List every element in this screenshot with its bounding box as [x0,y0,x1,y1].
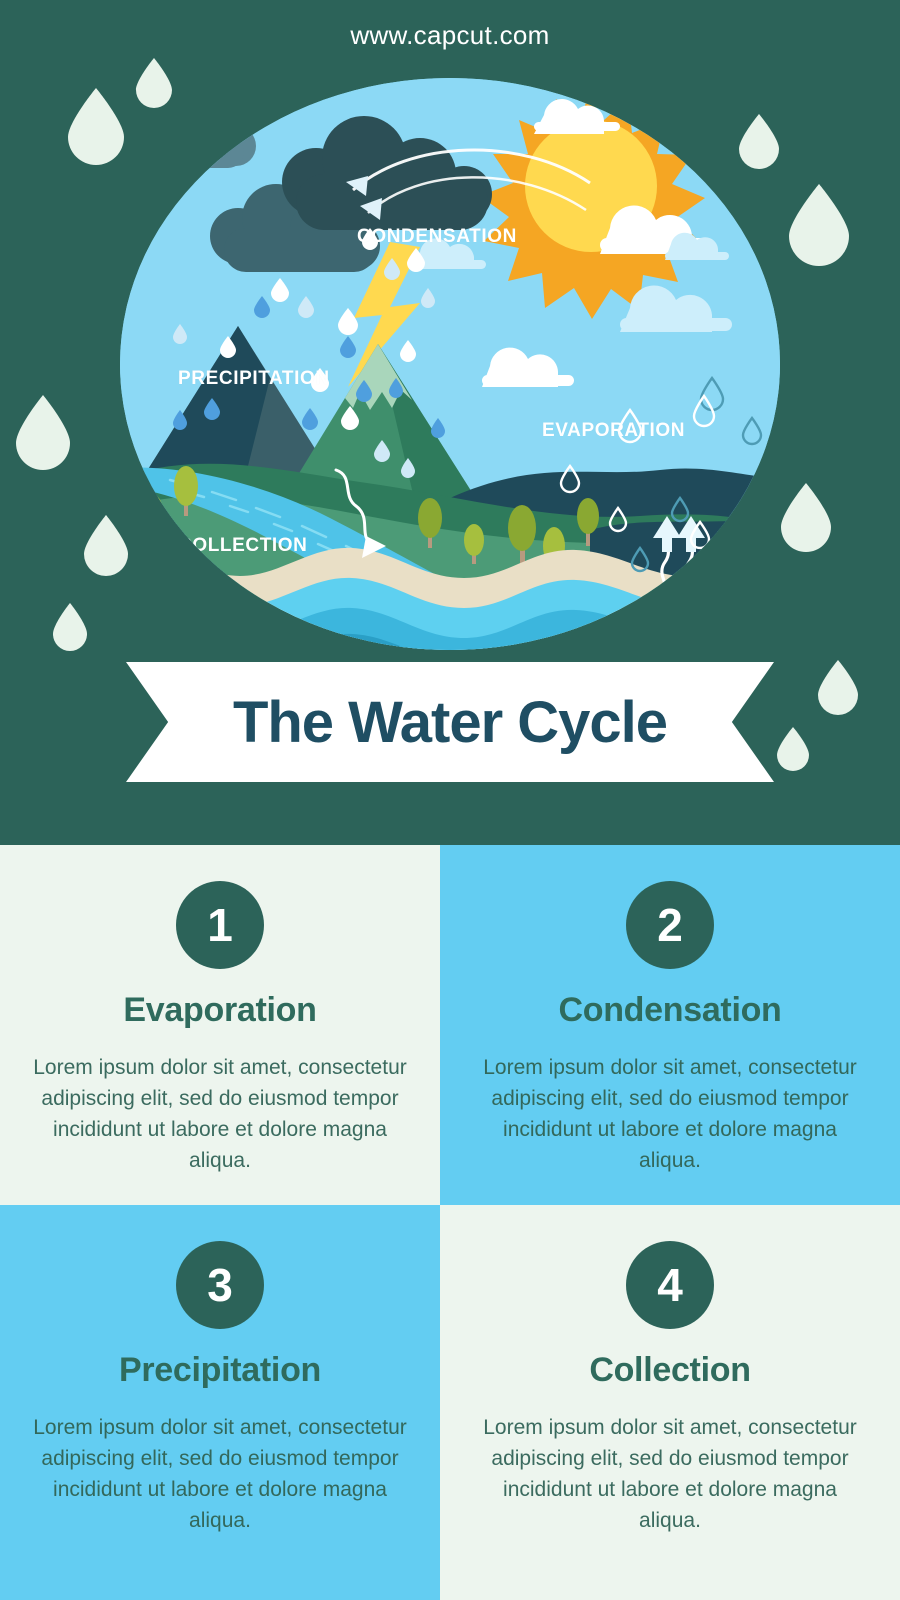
step-badge-4: 4 [626,1241,714,1329]
step-badge-1: 1 [176,881,264,969]
step-badge-2: 2 [626,881,714,969]
raindrop-icon [777,727,809,771]
label-precipitation: PRECIPITATION [178,368,330,390]
steps-grid: 1 Evaporation Lorem ipsum dolor sit amet… [0,845,900,1600]
label-evaporation: EVAPORATION [542,420,685,442]
raindrop-icon [16,395,70,470]
step-body-4: Lorem ipsum dolor sit amet, consectetur … [470,1412,870,1536]
raindrop-icon [789,184,849,266]
step-card-4[interactable]: 4 Collection Lorem ipsum dolor sit amet,… [440,1205,900,1600]
step-title-3: Precipitation [119,1351,321,1390]
step-body-2: Lorem ipsum dolor sit amet, consectetur … [470,1052,870,1176]
title-ribbon: The Water Cycle [126,662,774,782]
step-badge-3: 3 [176,1241,264,1329]
raindrop-icon [53,603,87,651]
raindrop-icon [781,483,831,552]
raindrop-icon [818,660,858,715]
step-card-2[interactable]: 2 Condensation Lorem ipsum dolor sit ame… [440,845,900,1205]
raindrop-icon [68,88,124,165]
step-body-3: Lorem ipsum dolor sit amet, consectetur … [26,1412,414,1536]
step-title-2: Condensation [558,991,781,1030]
label-collection: COLLECTION [178,535,308,557]
page-title: The Water Cycle [233,689,667,756]
water-cycle-illustration: CONDENSATION PRECIPITATION EVAPORATION C… [120,78,780,650]
step-card-1[interactable]: 1 Evaporation Lorem ipsum dolor sit amet… [0,845,440,1205]
step-title-4: Collection [589,1351,750,1390]
label-condensation: CONDENSATION [357,226,517,248]
step-card-3[interactable]: 3 Precipitation Lorem ipsum dolor sit am… [0,1205,440,1600]
step-body-1: Lorem ipsum dolor sit amet, consectetur … [26,1052,414,1176]
hero-section: www.capcut.com [0,0,900,845]
step-title-1: Evaporation [123,991,316,1030]
